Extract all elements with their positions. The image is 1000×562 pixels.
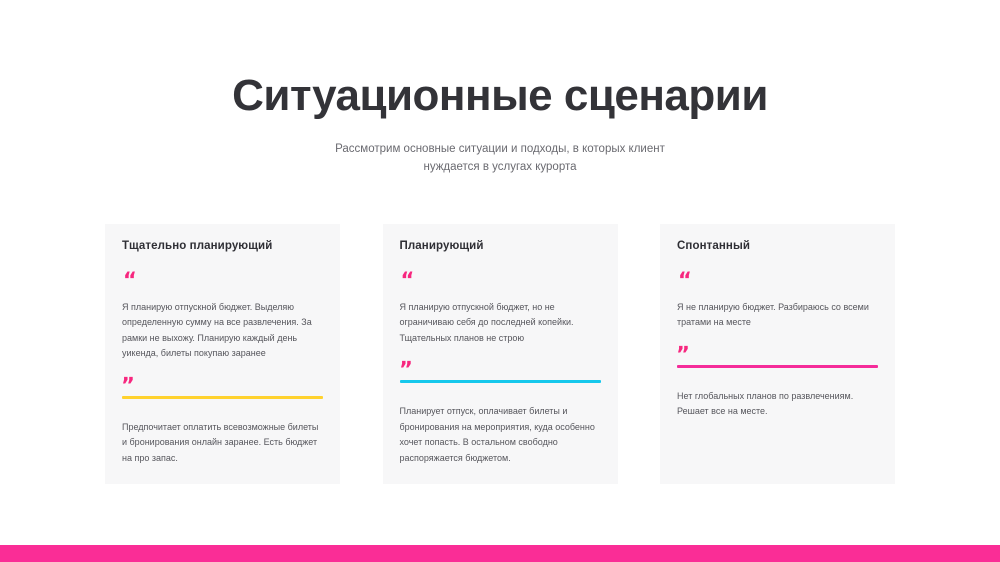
scenario-quote-text: Я планирую отпускной бюджет. Выделяю опр… xyxy=(122,300,323,362)
page-title: Ситуационные сценарии xyxy=(0,72,1000,120)
scenario-cards-row: Тщательно планирующий “ Я планирую отпус… xyxy=(105,224,895,484)
scenario-card[interactable]: Тщательно планирующий “ Я планирую отпус… xyxy=(105,224,340,484)
card-divider xyxy=(400,380,601,383)
quote-open-icon: “ xyxy=(123,270,323,291)
page-subtitle: Рассмотрим основные ситуации и подходы, … xyxy=(310,140,690,178)
quote-close-icon: “ xyxy=(677,333,878,354)
scenario-card-description: Предпочитает оплатить всевозможные билет… xyxy=(122,420,323,466)
quote-close-icon: “ xyxy=(400,348,601,369)
slide-root: Ситуационные сценарии Рассмотрим основны… xyxy=(0,0,1000,562)
scenario-card-title: Спонтанный xyxy=(677,240,878,252)
scenario-quote-block: “ Я планирую отпускной бюджет, но не огр… xyxy=(400,270,601,369)
card-divider xyxy=(122,396,323,399)
scenario-card-description: Планирует отпуск, оплачивает билеты и бр… xyxy=(400,404,601,466)
scenario-card-title: Тщательно планирующий xyxy=(122,240,323,252)
scenario-card[interactable]: Планирующий “ Я планирую отпускной бюдже… xyxy=(383,224,618,484)
scenario-quote-block: “ Я не планирую бюджет. Разбираюсь со вс… xyxy=(677,270,878,354)
scenario-card-title: Планирующий xyxy=(400,240,601,252)
quote-close-icon: “ xyxy=(122,364,323,385)
scenario-card[interactable]: Спонтанный “ Я не планирую бюджет. Разби… xyxy=(660,224,895,484)
card-divider xyxy=(677,365,878,368)
quote-open-icon: “ xyxy=(678,270,878,291)
scenario-quote-block: “ Я планирую отпускной бюджет. Выделяю о… xyxy=(122,270,323,385)
slide-header: Ситуационные сценарии Рассмотрим основны… xyxy=(0,0,1000,177)
scenario-quote-text: Я планирую отпускной бюджет, но не огран… xyxy=(400,300,601,346)
scenario-quote-text: Я не планирую бюджет. Разбираюсь со всем… xyxy=(677,300,878,331)
scenario-card-description: Нет глобальных планов по развлечениям. Р… xyxy=(677,389,878,420)
quote-open-icon: “ xyxy=(401,270,601,291)
bottom-accent-bar xyxy=(0,545,1000,562)
